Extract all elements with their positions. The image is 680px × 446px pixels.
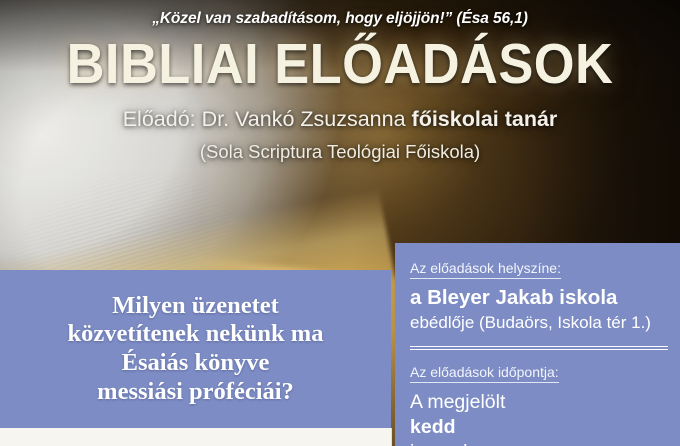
venue-block: Az előadások helyszíne: a Bleyer Jakab i… <box>410 260 668 333</box>
section-divider <box>410 346 668 350</box>
venue-name: a Bleyer Jakab iskola <box>410 286 668 310</box>
question-text: Milyen üzenetet közvetítenek nekünk ma É… <box>68 292 324 407</box>
question-panel: Milyen üzenetet közvetítenek nekünk ma É… <box>0 270 391 428</box>
page-title: BIBLIAI ELŐADÁSOK <box>40 36 640 93</box>
presenter-name: Előadó: Dr. Vankó Zsuzsanna <box>123 107 412 131</box>
presenter-institution: (Sola Scriptura Teológiai Főiskola) <box>14 141 666 163</box>
info-panel: Az előadások helyszíne: a Bleyer Jakab i… <box>395 243 680 446</box>
question-line-4: messiási próféciái? <box>68 378 324 407</box>
time-value: A megjelölt keddi napokon, 18.30-tól <box>410 390 668 446</box>
question-line-2: közvetítenek nekünk ma <box>68 320 324 349</box>
poster: „Közel van szabadításom, hogy eljöjjön!”… <box>0 0 680 446</box>
time-day-suffix: i napokon, <box>410 440 668 446</box>
time-label: Az előadások időpontja: <box>410 364 559 383</box>
question-line-1: Milyen üzenetet <box>68 292 324 321</box>
time-day: kedd <box>410 416 456 438</box>
time-block: Az előadások időpontja: A megjelölt kedd… <box>410 364 668 446</box>
venue-detail: ebédlője (Budaörs, Iskola tér 1.) <box>410 313 668 333</box>
time-prefix: A megjelölt <box>410 390 668 415</box>
venue-label: Az előadások helyszíne: <box>410 260 561 279</box>
hero-text-block: „Közel van szabadításom, hogy eljöjjön!”… <box>0 0 680 163</box>
presenter-line: Előadó: Dr. Vankó Zsuzsanna főiskolai ta… <box>14 107 666 132</box>
presenter-role: főiskolai tanár <box>412 107 558 131</box>
bottom-cream-panel <box>0 428 392 446</box>
question-line-3: Ésaiás könyve <box>68 349 324 378</box>
scripture-verse: „Közel van szabadításom, hogy eljöjjön!”… <box>14 10 666 28</box>
time-line-1: A megjelölt keddi napokon, <box>410 390 668 446</box>
